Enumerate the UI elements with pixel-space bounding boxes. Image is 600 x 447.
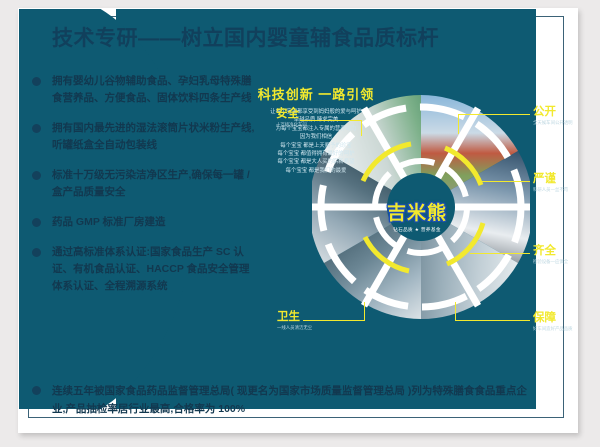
callout-title: 严谨: [533, 173, 568, 185]
bullet-dot-icon: [32, 77, 41, 86]
bullet-dot-icon: [32, 124, 41, 133]
list-item: 标准十万级无污染洁净区生产,确保每一罐 / 盒产品质量安全: [30, 167, 260, 201]
feature-bullet-list: 拥有婴幼儿谷物辅助食品、孕妇乳母特殊膳食营养品、方便食品、固体饮料四条生产线 拥…: [30, 73, 260, 308]
slogan-line: 每个宝宝 都是大人买的崭新希望: [236, 158, 396, 166]
slogan-line: 每个宝宝 都是上天赐予的珍宝: [236, 142, 396, 150]
list-item: 通过高标准体系认证:国家食品生产 SC 认证、有机食品认证、HACCP 食品安全…: [30, 244, 260, 295]
slogan-line: 每个宝宝 都值得拥有最好的呵护: [236, 150, 396, 158]
callout-title: 齐全: [533, 245, 568, 257]
list-item: 药品 GMP 标准厂房建造: [30, 214, 260, 231]
slogan-line: 每个宝宝 都是我们的最爱: [236, 167, 396, 175]
callout-guarantee: 保障 好车间造好产品品质: [533, 312, 573, 332]
bullet-dot-icon: [32, 171, 41, 180]
callout-title: 公开: [533, 106, 573, 118]
bullet-text: 拥有婴幼儿谷物辅助食品、孕妇乳母特殊膳食营养品、方便食品、固体饮料四条生产线: [52, 75, 252, 104]
callout-subtitle: 一线人员清洁无尘: [277, 324, 312, 331]
leader-line-safety-v: [361, 120, 362, 136]
callout-complete: 齐全 检验设备一应俱全: [533, 245, 568, 265]
callout-subtitle: 全天候车间公开透明: [533, 119, 573, 126]
leader-line-safety: [300, 120, 362, 121]
callout-rigorous: 严谨 科研人员一丝不苟: [533, 173, 568, 193]
leader-line-open: [458, 114, 530, 115]
leader-line-complete: [470, 253, 530, 254]
bullet-dot-icon: [32, 218, 41, 227]
callout-title: 保障: [533, 312, 573, 324]
callout-title: 安全: [276, 108, 307, 120]
leader-line-hygiene-v: [364, 302, 365, 321]
page-title: 技术专研——树立国内婴童辅食品质标杆: [52, 22, 439, 52]
callout-subtitle: 检验设备一应俱全: [533, 258, 568, 265]
leader-line-rigorous: [478, 181, 530, 182]
callout-open: 公开 全天候车间公开透明: [533, 106, 573, 126]
logo-tagline: 钻石品质 ★ 营养基金: [373, 227, 461, 233]
logo-name: 吉米熊: [373, 198, 461, 225]
poster-root: 技术专研——树立国内婴童辅食品质标杆 拥有婴幼儿谷物辅助食品、孕妇乳母特殊膳食营…: [0, 0, 600, 447]
bullet-text: 标准十万级无污染洁净区生产,确保每一罐 / 盒产品质量安全: [52, 169, 250, 198]
bullet-text: 通过高标准体系认证:国家食品生产 SC 认证、有机食品认证、HACCP 食品安全…: [52, 246, 250, 292]
callout-title: 卫生: [277, 311, 312, 323]
leader-line-hygiene: [303, 320, 365, 321]
slogan-block: 科技创新 一路引领 让每个宝宝都享受到妈妈般的爱与呵护 卓越品质 臻求完美 为每…: [236, 84, 396, 175]
slogan-headline: 科技创新 一路引领: [236, 84, 396, 103]
list-item: 拥有婴幼儿谷物辅助食品、孕妇乳母特殊膳食营养品、方便食品、固体饮料四条生产线: [30, 73, 260, 107]
brand-logo: 吉米熊 钻石品质 ★ 营养基金: [373, 198, 461, 250]
slogan-line: 因为我们相信: [236, 133, 396, 141]
bullet-text: 药品 GMP 标准厂房建造: [52, 216, 166, 228]
certification-note: 连续五年被国家食品药品监督管理总局( 现更名为国家市场质量监督管理总局 )列为特…: [30, 382, 530, 418]
leader-line-open-v: [458, 114, 459, 134]
slogan-line: 让每个宝宝都享受到妈妈般的爱与呵护: [236, 108, 396, 116]
callout-subtitle: 十万级净化车间: [276, 121, 307, 128]
callout-hygiene: 卫生 一线人员清洁无尘: [277, 311, 312, 331]
callout-safety: 安全 十万级净化车间: [276, 108, 307, 128]
bullet-text: 拥有国内最先进的湿法滚筒片状米粉生产线,听罐纸盒全自动包装线: [52, 122, 254, 151]
bullet-dot-icon: [32, 248, 41, 257]
slogan-line: 为每个宝宝都注入专属的营养动力: [236, 125, 396, 133]
leader-line-guarantee-v: [455, 302, 456, 321]
callout-subtitle: 好车间造好产品品质: [533, 325, 573, 332]
callout-subtitle: 科研人员一丝不苟: [533, 186, 568, 193]
bullet-text: 连续五年被国家食品药品监督管理总局( 现更名为国家市场质量监督管理总局 )列为特…: [52, 385, 527, 415]
list-item: 拥有国内最先进的湿法滚筒片状米粉生产线,听罐纸盒全自动包装线: [30, 120, 260, 154]
bullet-dot-icon: [32, 386, 41, 395]
leader-line-guarantee: [455, 320, 530, 321]
